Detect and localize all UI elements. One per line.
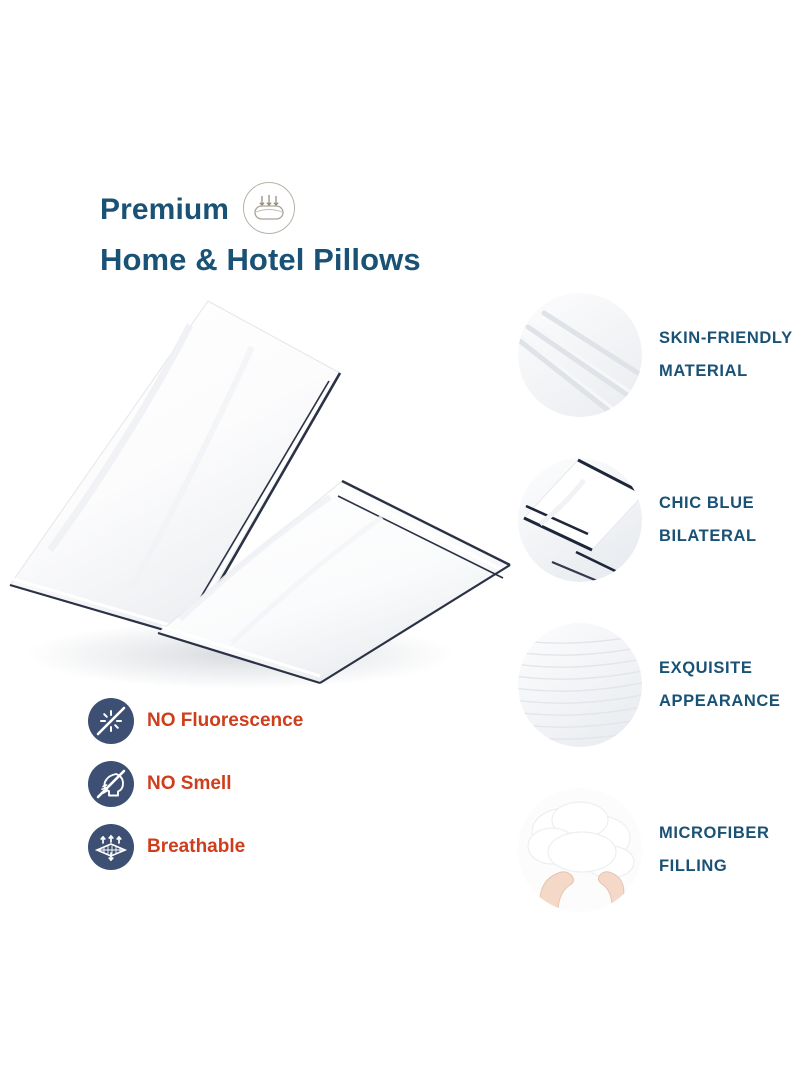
trust-badge-list: NO Fluorescence NO Smell — [88, 698, 303, 870]
feature-label-line-1: EXQUISITE — [659, 659, 752, 677]
trust-badge-breathable: Breathable — [88, 824, 303, 870]
product-infographic: Premium Home & Hotel Pillows — [0, 0, 800, 1090]
feature-item-chic-blue-bilateral: CHIC BLUE BILATERAL — [518, 437, 800, 602]
feature-label: CHIC BLUE BILATERAL — [659, 487, 757, 551]
trust-badge-no-fluorescence: NO Fluorescence — [88, 698, 303, 744]
trust-badge-label: NO Smell — [147, 773, 231, 795]
page-header: Premium Home & Hotel Pillows — [100, 186, 520, 280]
hands-holding-fiber-fill — [518, 788, 642, 912]
feature-label: SKIN-FRIENDLY MATERIAL — [659, 322, 793, 386]
breathable-icon — [88, 824, 134, 870]
pillow-logo-icon — [243, 182, 295, 234]
trust-badge-label: NO Fluorescence — [147, 710, 303, 732]
feature-label-line-1: CHIC BLUE — [659, 494, 754, 512]
no-smell-icon — [88, 761, 134, 807]
feature-label-line-1: SKIN-FRIENDLY — [659, 329, 793, 347]
striped-fabric-texture-closeup — [518, 623, 642, 747]
title-row-primary: Premium — [100, 186, 520, 234]
feature-item-skin-friendly-material: SKIN-FRIENDLY MATERIAL — [518, 272, 800, 437]
no-fluorescence-icon — [88, 698, 134, 744]
navy-piping-corner-closeup — [518, 458, 642, 582]
feature-label-line-1: MICROFIBER — [659, 824, 770, 842]
feature-label: EXQUISITE APPEARANCE — [659, 652, 781, 716]
feature-item-exquisite-appearance: EXQUISITE APPEARANCE — [518, 602, 800, 767]
feature-label-line-2: MATERIAL — [659, 355, 793, 387]
feature-label-line-2: BILATERAL — [659, 520, 757, 552]
fabric-folds-closeup — [518, 293, 642, 417]
feature-label-line-2: FILLING — [659, 850, 770, 882]
trust-badge-no-smell: NO Smell — [88, 761, 303, 807]
feature-label: MICROFIBER FILLING — [659, 817, 770, 881]
feature-item-microfiber-filling: MICROFIBER FILLING — [518, 767, 800, 932]
page-title-line-2: Home & Hotel Pillows — [100, 240, 520, 280]
trust-badge-label: Breathable — [147, 836, 245, 858]
feature-label-line-2: APPEARANCE — [659, 685, 781, 717]
page-title-line-1: Premium — [100, 191, 229, 229]
product-hero-image — [0, 285, 530, 705]
feature-list: SKIN-FRIENDLY MATERIAL — [518, 272, 800, 932]
